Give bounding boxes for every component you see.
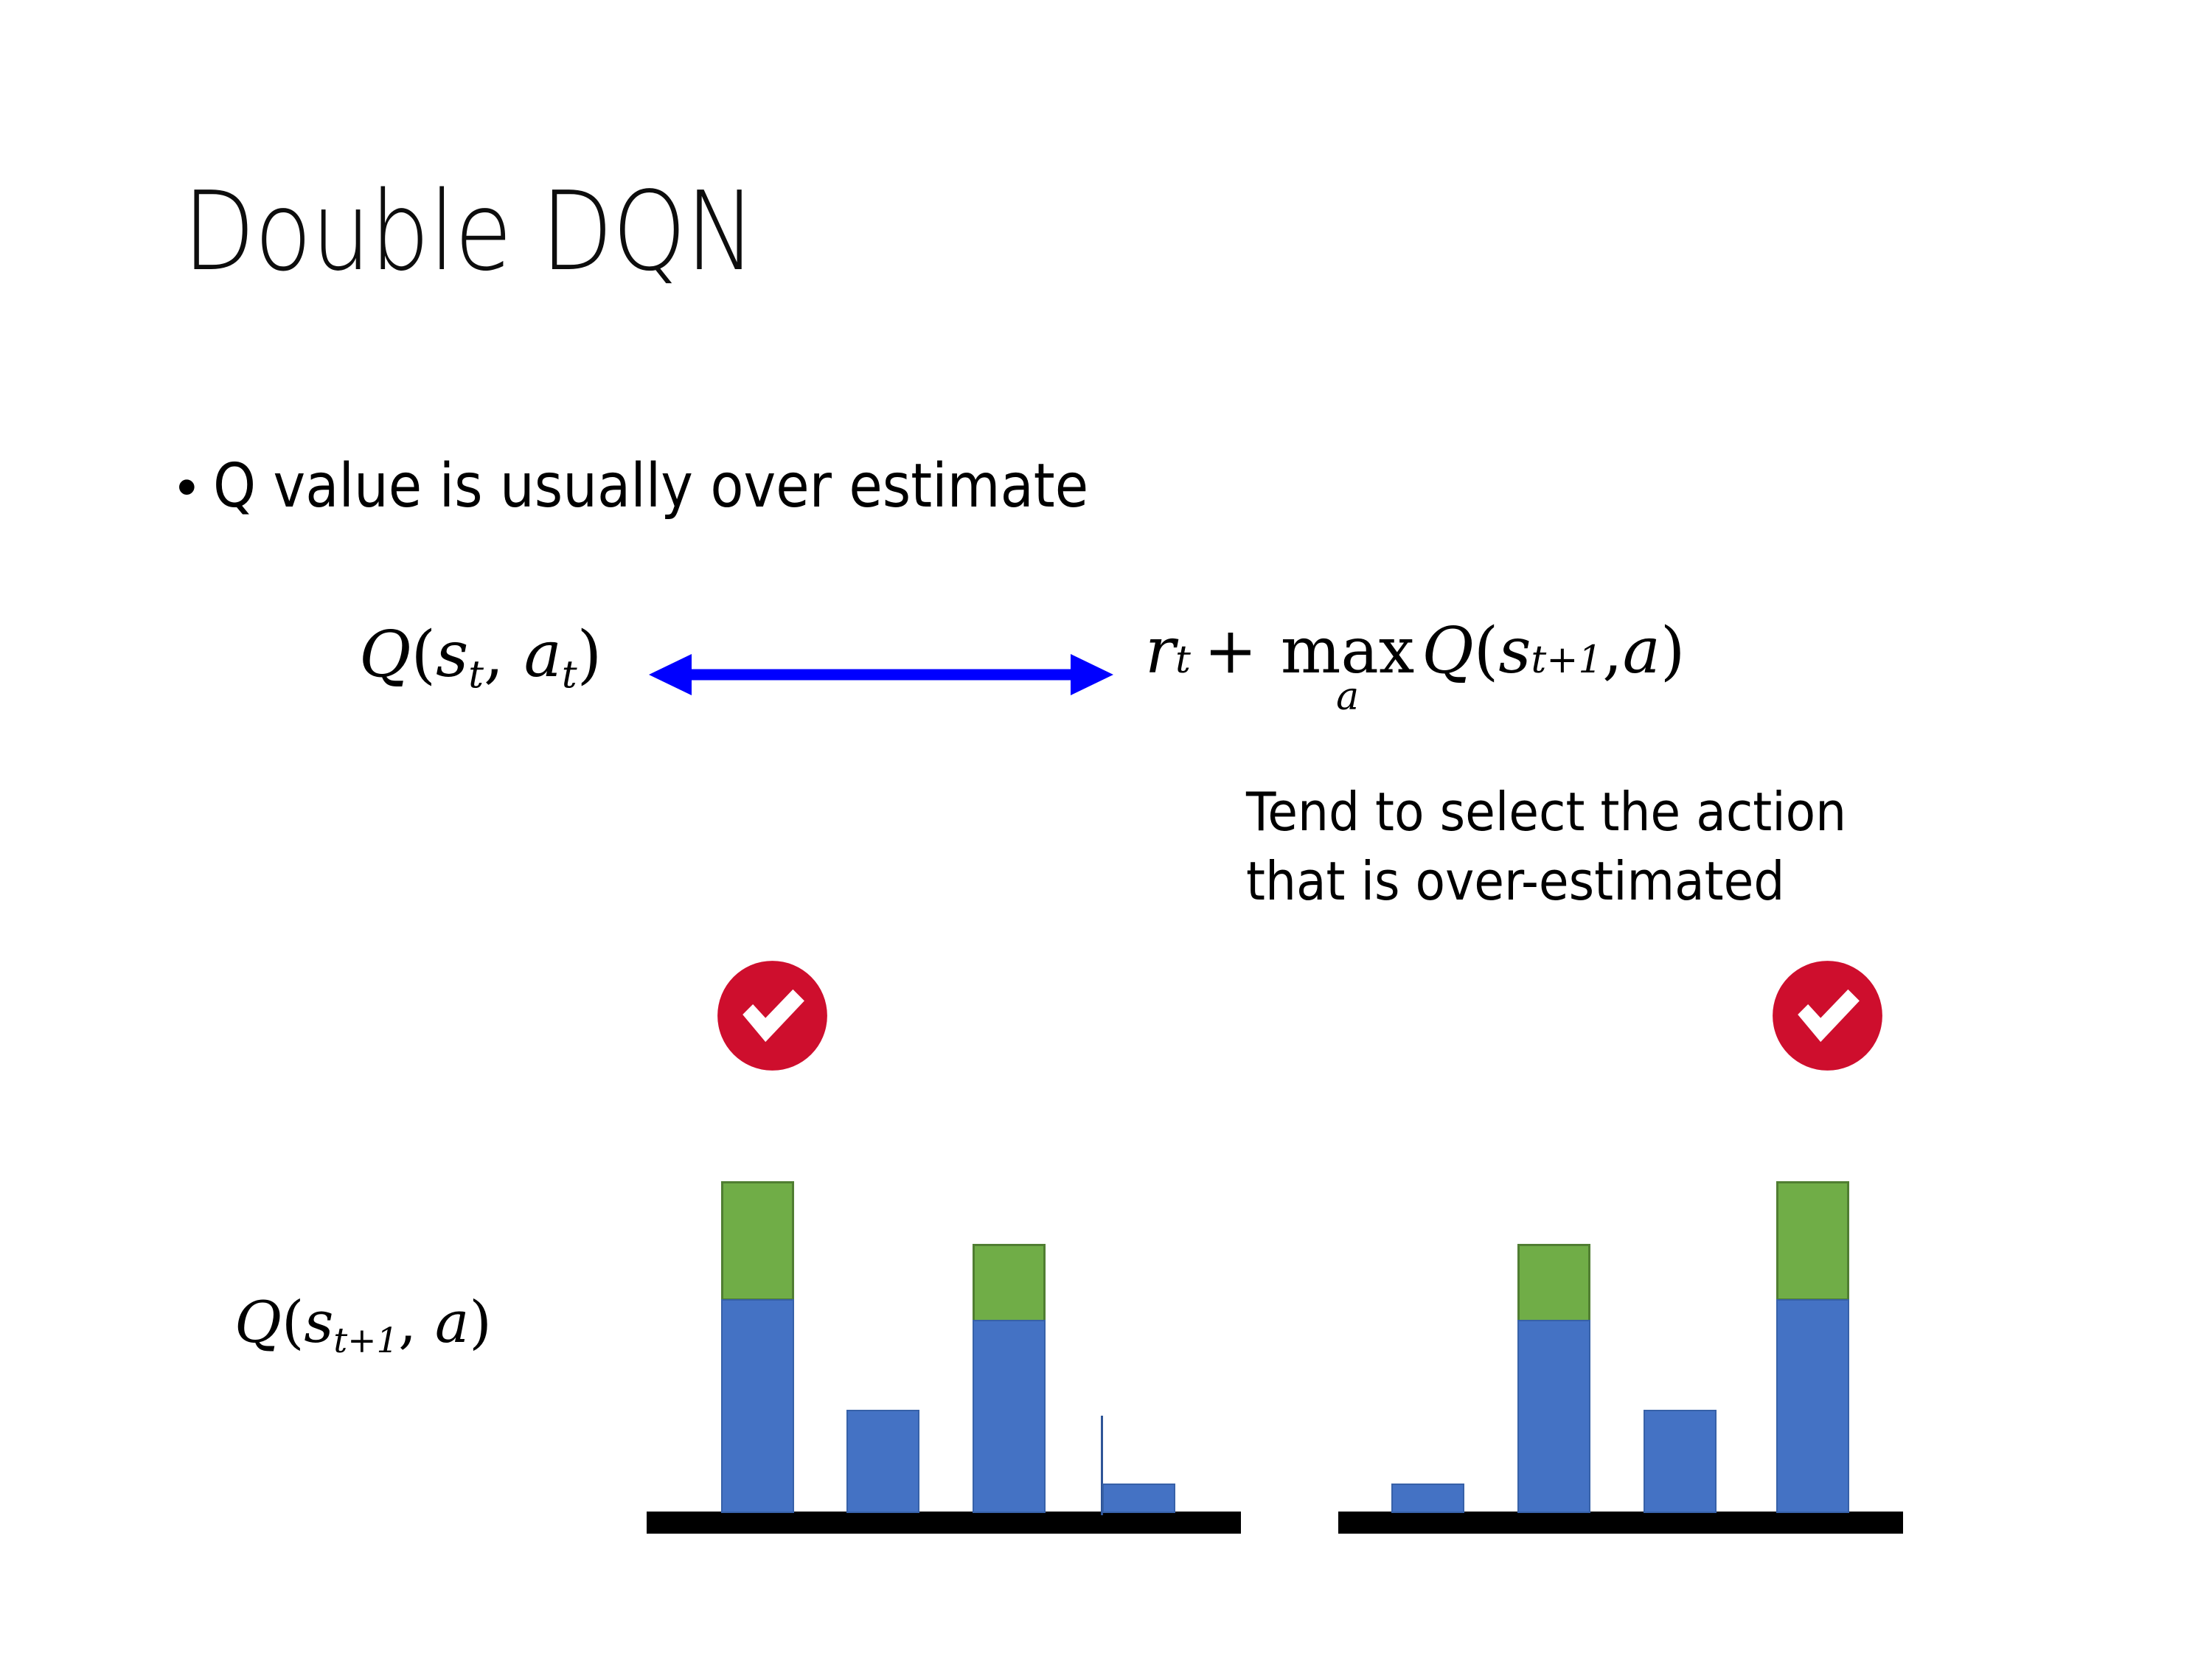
left-chart-bar-2[interactable] [846, 1410, 919, 1513]
eq-left-a: a [524, 618, 562, 692]
max-operator-label: max [1281, 622, 1414, 682]
bullet-list-item: • Q value is usually over estimate [177, 453, 1186, 520]
left-chart-baseline [647, 1512, 1241, 1534]
max-operator-subscript: a [1336, 678, 1359, 716]
left-chart-bar-3-overestimate [973, 1244, 1046, 1322]
eq-right-comma: , [1602, 619, 1622, 683]
right-chart-bar-1[interactable] [1391, 1484, 1464, 1513]
eq-right-a: a [1623, 619, 1660, 683]
right-chart-bar-4-overestimate [1776, 1181, 1849, 1301]
left-bar-chart [647, 951, 1244, 1534]
right-chart-bar-2-true-value [1517, 1320, 1590, 1513]
right-chart-bar-4-true-value [1776, 1299, 1849, 1513]
slide-canvas: Double DQN • Q value is usually over est… [0, 0, 2212, 1659]
page-title: Double DQN [183, 171, 755, 293]
chart-label-s-subscript: t+1 [333, 1321, 398, 1361]
eq-left-open-paren: ( [411, 618, 437, 692]
left-chart-selected-check-icon [715, 959, 829, 1073]
eq-left-s-subscript: t [468, 653, 484, 697]
right-chart-selected-check-icon [1770, 959, 1885, 1073]
eq-right-s-subscript: t+1 [1531, 641, 1602, 680]
right-chart-bar-1-true-value [1391, 1484, 1464, 1513]
eq-left-Q: Q [359, 618, 411, 692]
annotation-note: Tend to select the action that is over-e… [1246, 778, 1846, 916]
eq-right-Q: Q [1422, 619, 1474, 683]
left-chart-bar-1[interactable] [721, 1181, 794, 1513]
bullet-text: Q value is usually over estimate [213, 453, 1088, 520]
eq-left-s: s [436, 618, 468, 692]
eq-right-close-paren: ) [1660, 619, 1686, 683]
chart-y-axis-label: Q(st+1, a) [234, 1294, 492, 1359]
max-operator: max a [1281, 622, 1414, 716]
right-chart-baseline [1338, 1512, 1903, 1534]
right-chart-bar-3-true-value [1644, 1410, 1717, 1513]
eq-left-comma: , [484, 618, 524, 692]
chart-label-open-paren: ( [282, 1290, 304, 1356]
equation-left-q-value: Q(st, at) [359, 623, 602, 695]
left-chart-bar-4[interactable] [1102, 1484, 1175, 1513]
chart-label-close-paren: ) [469, 1290, 491, 1356]
left-chart-bar-4-true-value [1102, 1484, 1175, 1513]
right-chart-bar-3[interactable] [1644, 1410, 1717, 1513]
eq-right-r: r [1145, 619, 1175, 683]
chart-label-Q: Q [234, 1290, 282, 1356]
note-line-1: Tend to select the action [1246, 778, 1846, 847]
chart-label-s: s [304, 1290, 333, 1356]
chart-label-comma: , [398, 1290, 435, 1356]
eq-left-a-subscript: t [562, 653, 577, 697]
left-chart-bar-1-overestimate [721, 1181, 794, 1301]
eq-right-open-paren: ( [1474, 619, 1499, 683]
right-bar-chart [1338, 951, 1921, 1534]
eq-left-close-paren: ) [577, 618, 602, 692]
right-chart-bar-2-overestimate [1517, 1244, 1590, 1322]
left-chart-bar-3[interactable] [973, 1244, 1046, 1513]
bullet-marker: • [177, 459, 197, 515]
double-headed-arrow-icon [649, 653, 1113, 697]
note-line-2: that is over-estimated [1246, 847, 1846, 917]
eq-right-r-subscript: t [1175, 641, 1191, 680]
left-chart-bar-2-true-value [846, 1410, 919, 1513]
eq-right-plus: + [1204, 619, 1257, 683]
left-chart-bar-3-true-value [973, 1320, 1046, 1513]
left-chart-bar-1-true-value [721, 1299, 794, 1513]
eq-right-s: s [1498, 619, 1531, 683]
chart-label-a: a [435, 1290, 470, 1356]
right-chart-bar-2[interactable] [1517, 1244, 1590, 1513]
right-chart-bar-4[interactable] [1776, 1181, 1849, 1513]
equation-right-target: rt + max a Q(st+1, a) [1145, 619, 1685, 716]
